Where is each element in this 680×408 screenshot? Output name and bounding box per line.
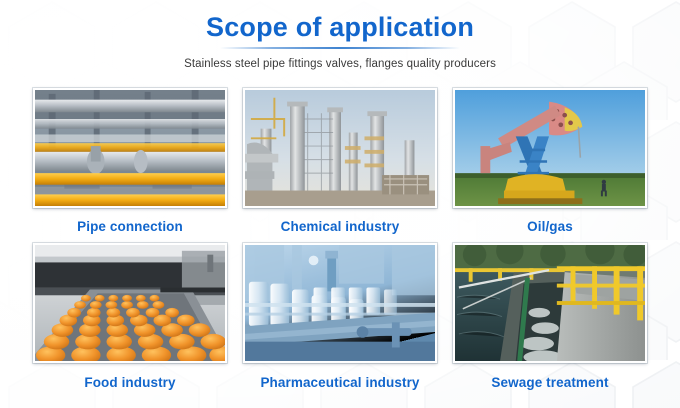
card-caption: Oil/gas — [453, 208, 647, 235]
card-pharmaceutical-industry[interactable]: Pharmaceutical industry — [243, 243, 437, 391]
card-caption: Chemical industry — [243, 208, 437, 235]
food-industry-photo[interactable] — [33, 243, 227, 363]
card-chemical-industry[interactable]: Chemical industry — [243, 88, 437, 235]
card-sewage-treatment[interactable]: Sewage treatment — [453, 243, 647, 391]
oil-gas-photo[interactable] — [453, 88, 647, 208]
page-title: Scope of application — [0, 10, 680, 44]
card-caption: Food industry — [33, 363, 227, 391]
pipe-connection-photo[interactable] — [33, 88, 227, 208]
sewage-treatment-photo[interactable] — [453, 243, 647, 363]
card-caption: Pipe connection — [33, 208, 227, 235]
page-subtitle: Stainless steel pipe fittings valves, fl… — [0, 57, 680, 72]
card-food-industry[interactable]: Food industry — [33, 243, 227, 391]
title-underline-rule — [220, 47, 460, 49]
card-oil-gas[interactable]: Oil/gas — [453, 88, 647, 235]
banner-header: Scope of application Stainless steel pip… — [0, 10, 680, 72]
chemical-industry-photo[interactable] — [243, 88, 437, 208]
card-caption: Sewage treatment — [453, 363, 647, 391]
card-pipe-connection[interactable]: Pipe connection — [33, 88, 227, 235]
scope-of-application-banner: Scope of application Stainless steel pip… — [0, 0, 680, 408]
application-card-grid: Pipe connection — [33, 88, 647, 391]
pharmaceutical-industry-photo[interactable] — [243, 243, 437, 363]
card-caption: Pharmaceutical industry — [243, 363, 437, 391]
